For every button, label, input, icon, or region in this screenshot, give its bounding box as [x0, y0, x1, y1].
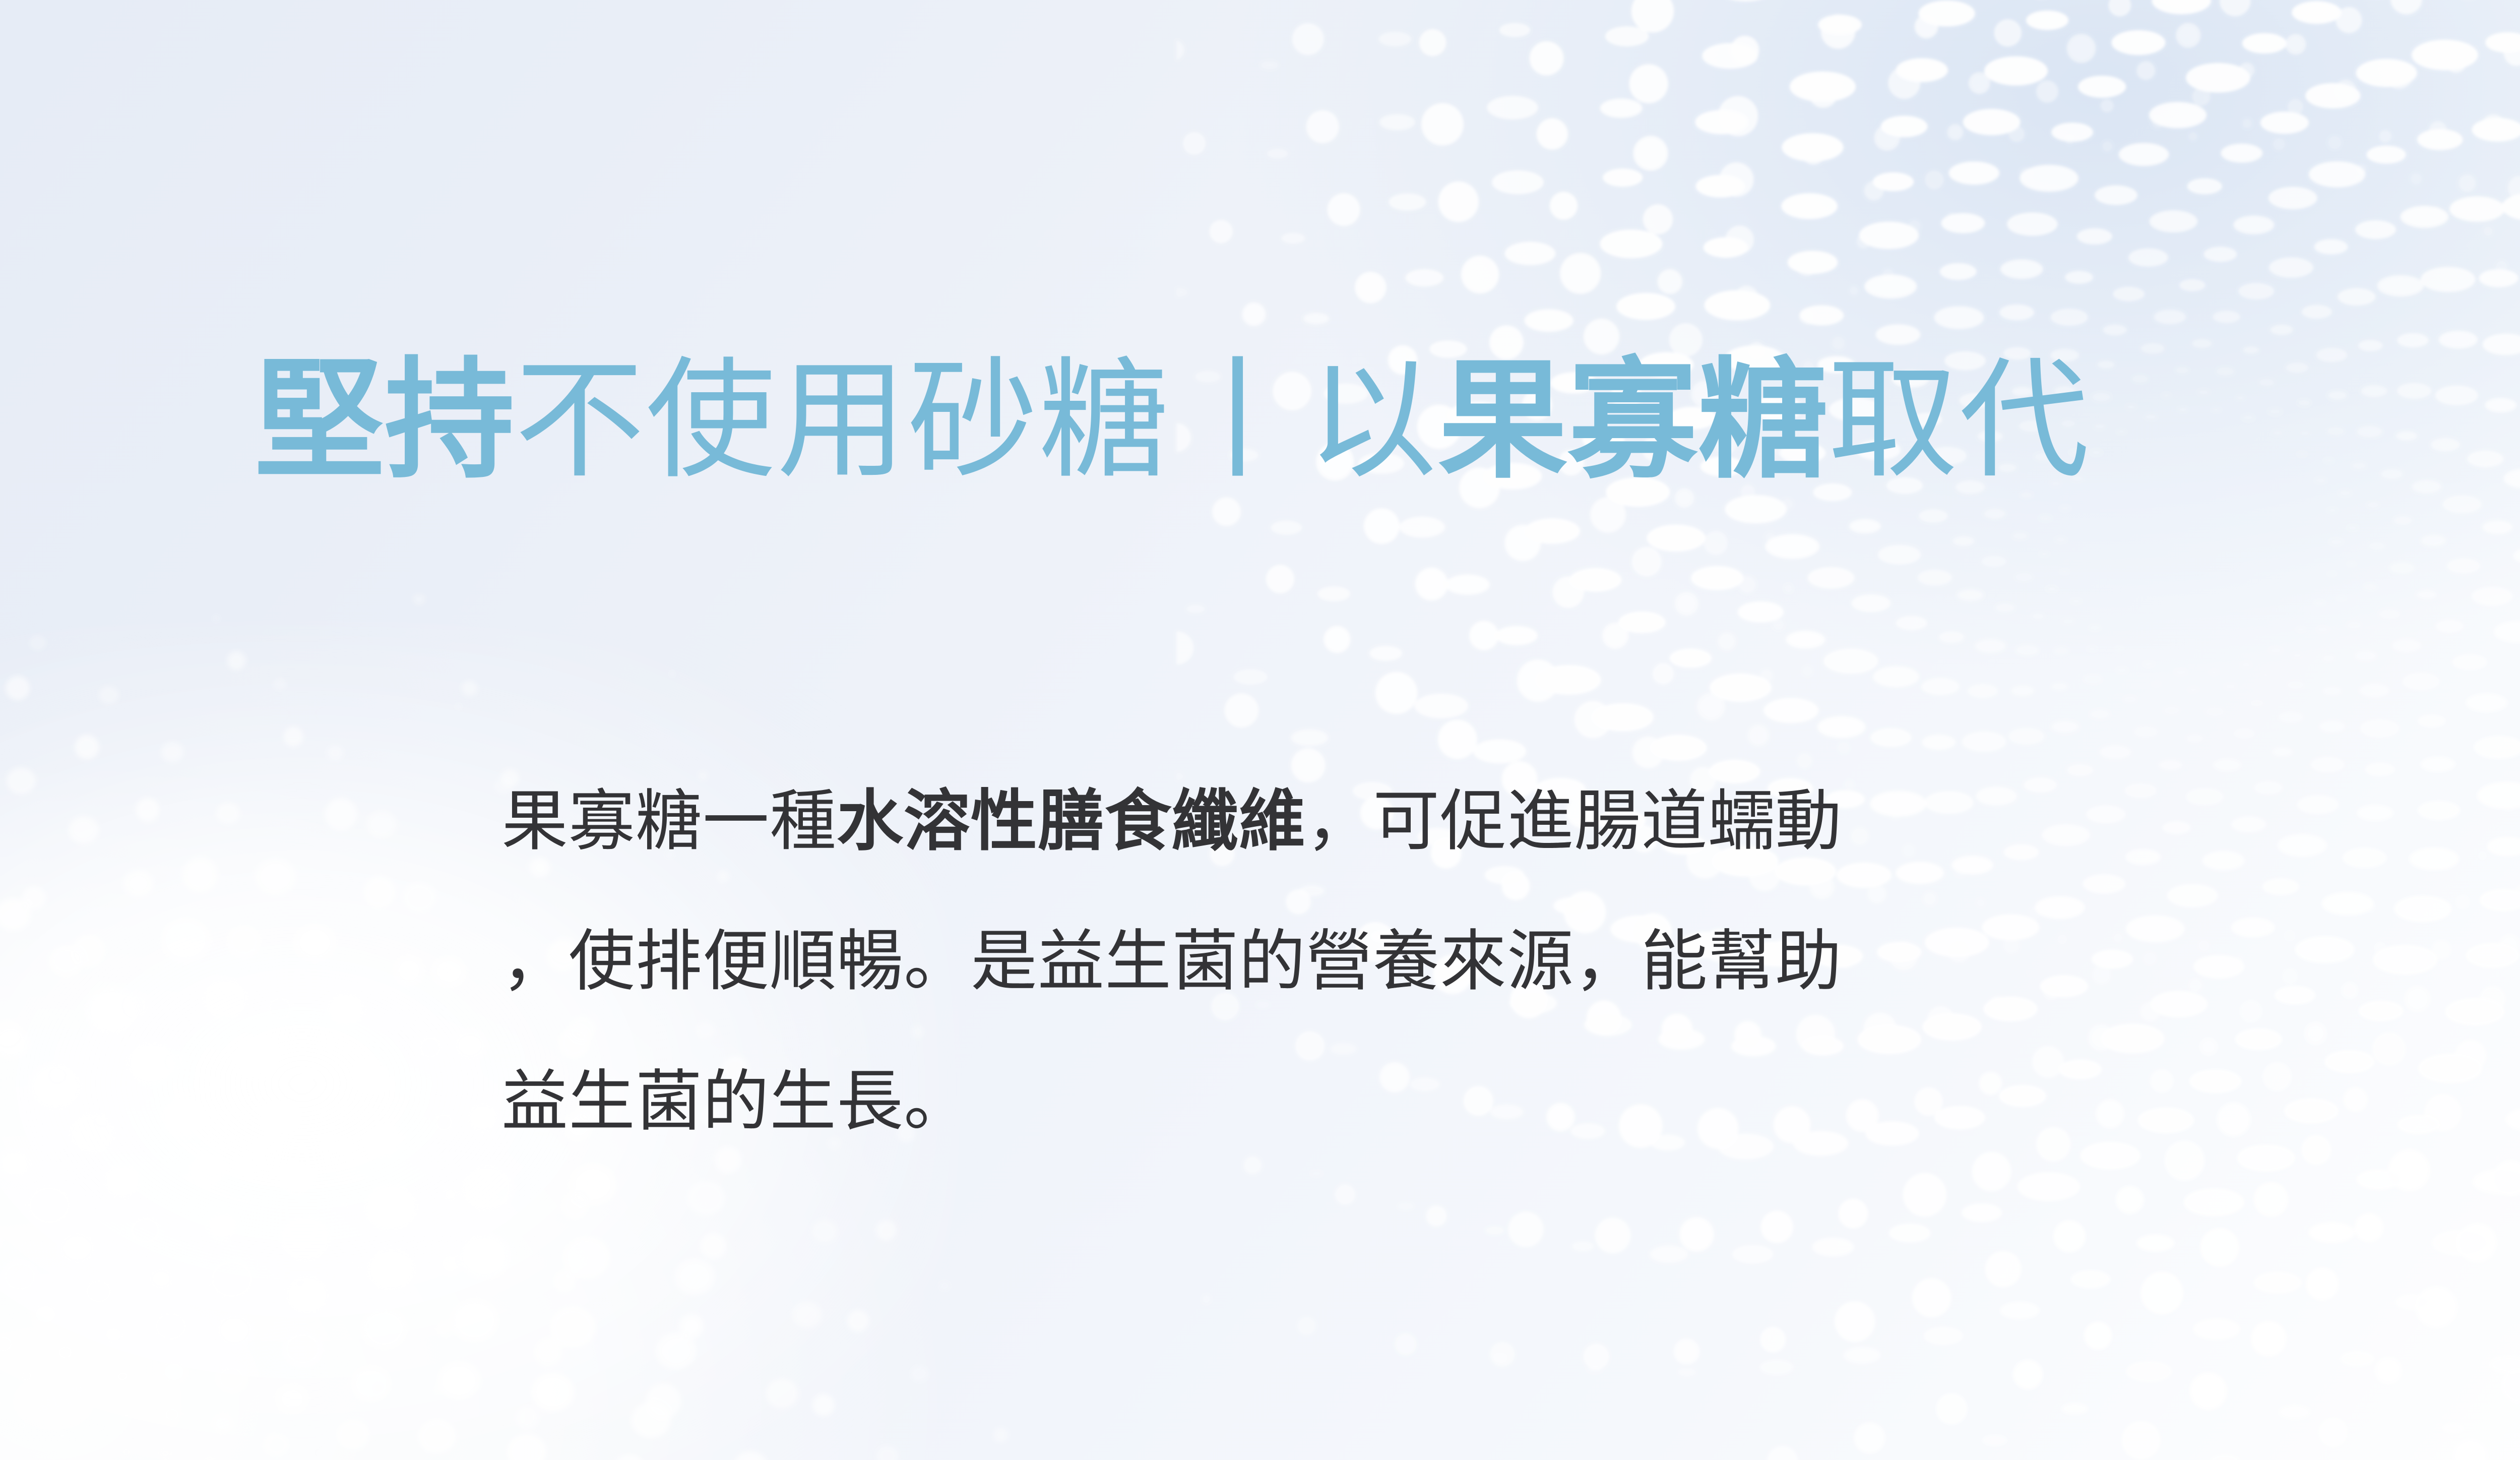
body-line-1: 果寡糖一種水溶性膳食纖維，可促進腸道蠕動 [501, 751, 2240, 891]
body-line-3: 益生菌的生長。 [501, 1031, 2240, 1172]
title-segment-0: 堅持 [255, 347, 515, 493]
body-line-3-segment-0: 益生菌的生長。 [501, 1064, 971, 1138]
body-line-2-segment-0: ，使排便順暢。是益生菌的營養來源，能幫助 [501, 924, 1842, 998]
title-separator-bar: 丨 [1170, 347, 1307, 493]
body-line-1-segment-0: 果寡糖一種 [501, 784, 837, 858]
slide-canvas: 堅持不使用砂糖丨以果寡糖取代 果寡糖一種水溶性膳食纖維，可促進腸道蠕動 ，使排便… [0, 0, 2520, 1460]
body-line-2: ，使排便順暢。是益生菌的營養來源，能幫助 [501, 891, 2240, 1031]
title-segment-1: 不使用砂糖 [515, 347, 1170, 493]
title-segment-4: 果寡糖 [1438, 347, 1828, 493]
page-title-text: 堅持不使用砂糖丨以果寡糖取代 [255, 348, 2472, 494]
page-title: 堅持不使用砂糖丨以果寡糖取代 [255, 348, 2472, 494]
body-paragraph: 果寡糖一種水溶性膳食纖維，可促進腸道蠕動 ，使排便順暢。是益生菌的營養來源，能幫… [501, 751, 2240, 1172]
body-line-1-segment-2: ，可促進腸道蠕動 [1306, 784, 1842, 858]
body-line-1-segment-1-emphasis: 水溶性膳食纖維 [837, 784, 1306, 858]
title-segment-3: 以 [1307, 347, 1438, 493]
title-segment-5: 取代 [1828, 347, 2090, 493]
